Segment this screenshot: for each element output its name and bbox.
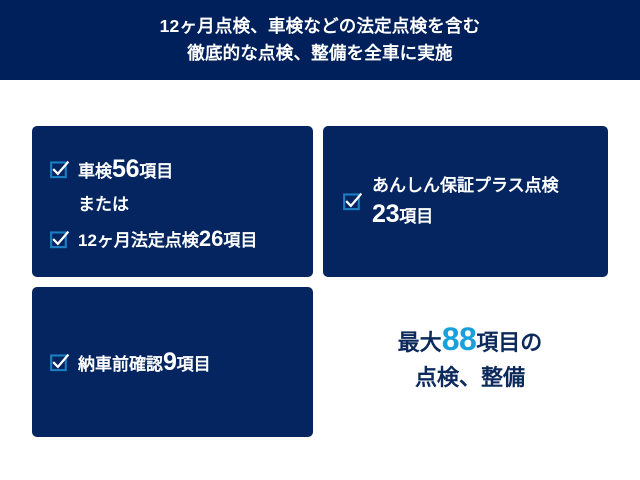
month12-unit: 項目 [223, 231, 257, 250]
inspection-row-12month-text: 12ヶ月法定点検26項目 [78, 228, 257, 250]
month12-label: 12ヶ月法定点検 [78, 231, 199, 250]
predelivery-content: 納車前確認9項目 [50, 287, 305, 437]
checkbox-checked-icon [343, 192, 362, 211]
warranty-unit: 項目 [399, 207, 433, 226]
shaken-unit: 項目 [139, 162, 173, 181]
predelivery-number: 9 [163, 348, 177, 376]
month12-number: 26 [199, 226, 223, 251]
checkbox-checked-icon [50, 160, 69, 179]
predelivery-label: 納車前確認 [78, 355, 163, 374]
predelivery-unit: 項目 [177, 355, 211, 374]
summary-unit: 項目 [476, 330, 520, 355]
card-statutory-inspection: 車検56項目 または 12ヶ月法定点検26項目 [32, 126, 313, 277]
checkbox-checked-icon [50, 230, 69, 249]
header-banner: 12ヶ月点検、車検などの法定点検を含む 徹底的な点検、整備を全車に実施 [0, 0, 640, 80]
shaken-number: 56 [112, 155, 139, 183]
warranty-number: 23 [372, 200, 399, 228]
card-warranty-plus-inspection: あんしん保証プラス点検 23項目 [323, 126, 608, 277]
inspection-promo-page: 12ヶ月点検、車検などの法定点検を含む 徹底的な点検、整備を全車に実施 車検56… [0, 0, 640, 480]
summary-total: 最大88項目の 点検、整備 [330, 322, 610, 395]
summary-prefix: 最大 [398, 330, 442, 355]
inspection-row-shaken: 車検56項目 [50, 154, 303, 184]
header-line-2: 徹底的な点検、整備を全車に実施 [187, 40, 453, 67]
summary-number: 88 [442, 321, 477, 357]
inspection-row-or: または [50, 189, 303, 219]
predelivery-text: 納車前確認9項目 [78, 350, 211, 375]
checkbox-checked-icon [50, 353, 69, 372]
inspection-or-label: または [78, 196, 129, 213]
inspection-row-list: 車検56項目 または 12ヶ月法定点検26項目 [50, 154, 303, 254]
card-predelivery-check: 納車前確認9項目 [32, 287, 313, 437]
warranty-line-1: あんしん保証プラス点検 [372, 177, 559, 194]
warranty-content: あんしん保証プラス点検 23項目 [343, 126, 600, 277]
summary-line-2: 点検、整備 [330, 360, 610, 395]
summary-line-1: 最大88項目の [330, 322, 610, 360]
warranty-text-block: あんしん保証プラス点検 23項目 [372, 177, 559, 227]
warranty-line-2: 23項目 [372, 202, 559, 227]
inspection-row-12month: 12ヶ月法定点検26項目 [50, 224, 303, 254]
inspection-row-shaken-text: 車検56項目 [78, 157, 173, 182]
header-line-1: 12ヶ月点検、車検などの法定点検を含む [160, 13, 481, 40]
summary-suffix: の [520, 330, 542, 355]
shaken-label: 車検 [78, 162, 112, 181]
